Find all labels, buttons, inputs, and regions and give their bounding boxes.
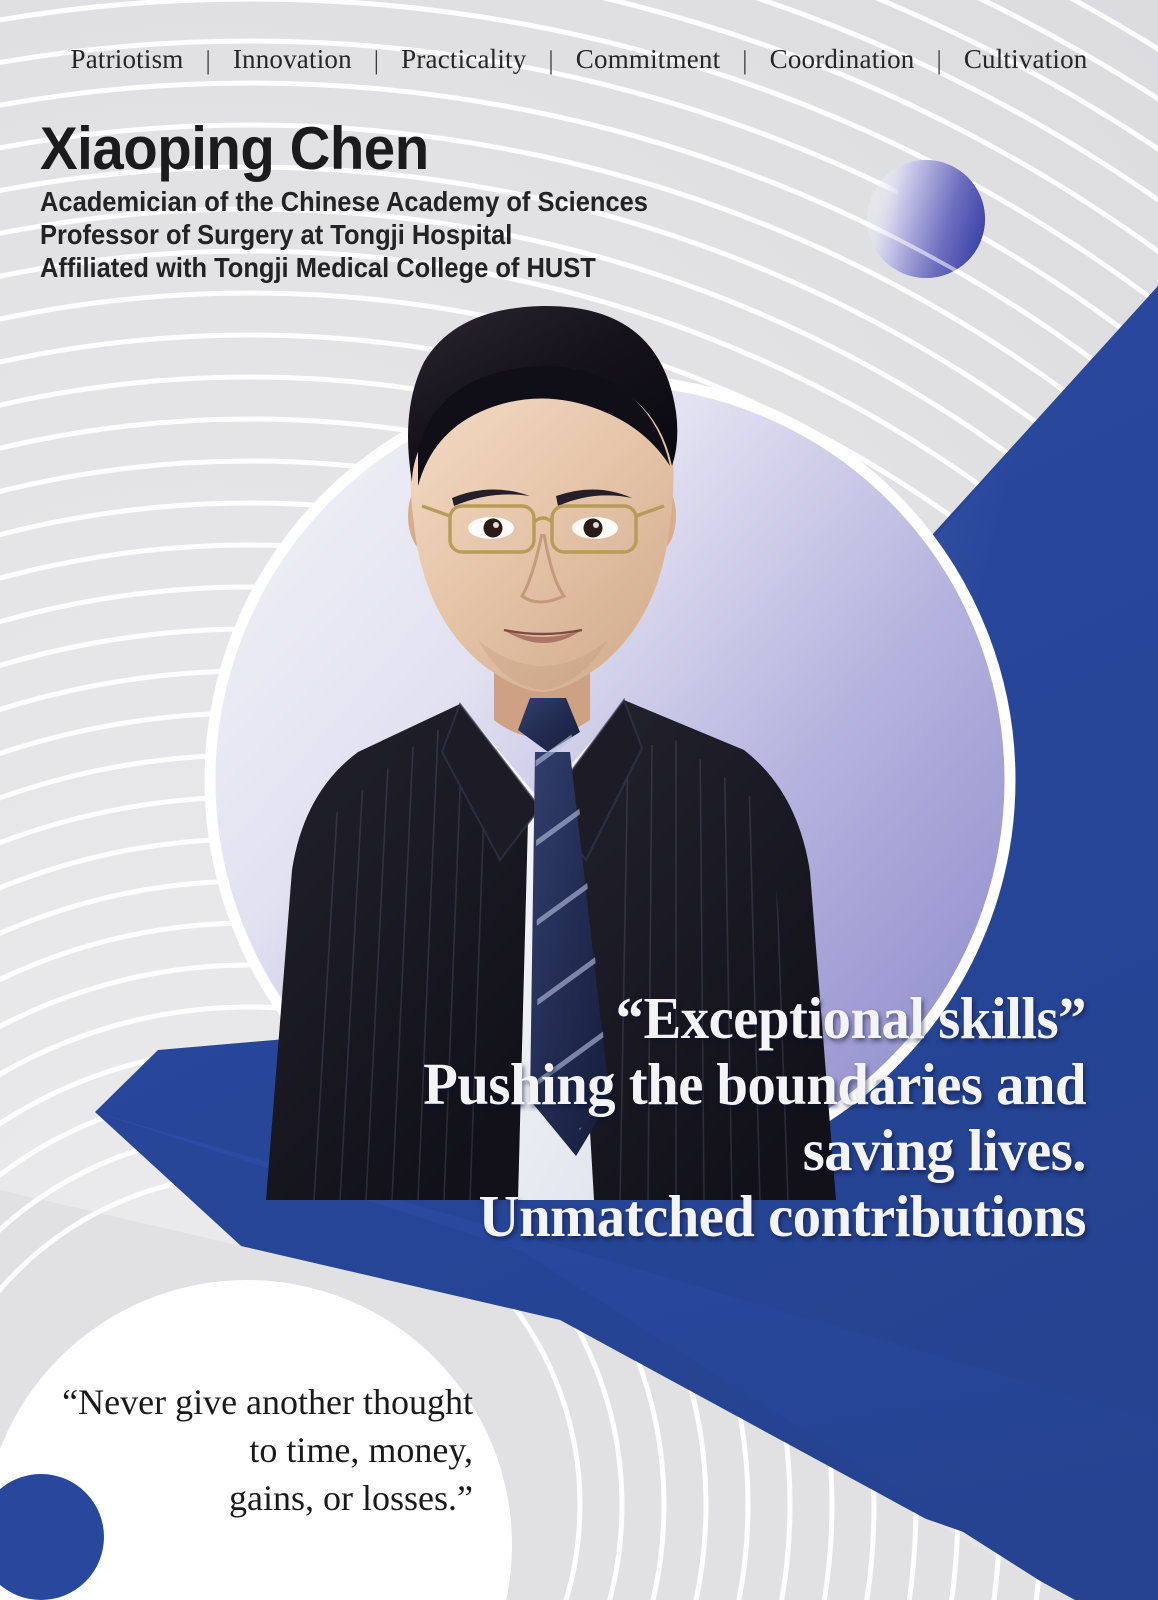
tagline-line-2: Pushing the boundaries and [337, 1051, 1086, 1117]
quote-line-2: to time, money, [28, 1426, 473, 1474]
tagline-line-1: “Exceptional skills” [337, 985, 1086, 1051]
virtue-innovation: Innovation [229, 44, 356, 74]
tagline-line-3: saving lives. [337, 1117, 1086, 1183]
credential-line-2: Professor of Surgery at Tongji Hospital [40, 218, 648, 251]
virtue-coordination: Coordination [766, 44, 919, 74]
virtue-cultivation: Cultivation [960, 44, 1092, 74]
page-title: Xiaoping Chen [40, 118, 668, 180]
poster-root: Patriotism | Innovation | Practicality |… [0, 0, 1158, 1600]
credential-line-3: Affiliated with Tongji Medical College o… [40, 251, 648, 284]
virtue-practicality: Practicality [397, 44, 530, 74]
tagline-block: “Exceptional skills” Pushing the boundar… [306, 985, 1086, 1249]
quote-line-1: “Never give another thought [28, 1378, 473, 1426]
personal-quote: “Never give another thought to time, mon… [28, 1378, 473, 1522]
credential-line-1: Academician of the Chinese Academy of Sc… [40, 185, 648, 218]
credentials-list: Academician of the Chinese Academy of Sc… [40, 185, 708, 284]
profile-header: Xiaoping Chen Academician of the Chinese… [40, 118, 708, 284]
virtue-separator-2: | [363, 46, 390, 76]
virtues-strip: Patriotism | Innovation | Practicality |… [0, 44, 1158, 75]
virtue-separator-1: | [194, 46, 221, 76]
virtue-separator-3: | [537, 46, 564, 76]
virtue-separator-4: | [731, 46, 758, 76]
virtue-separator-5: | [925, 46, 952, 76]
tagline-line-4: Unmatched contributions [337, 1183, 1086, 1249]
virtue-patriotism: Patriotism [66, 44, 187, 74]
virtue-commitment: Commitment [572, 44, 725, 74]
quote-line-3: gains, or losses.” [28, 1474, 473, 1522]
